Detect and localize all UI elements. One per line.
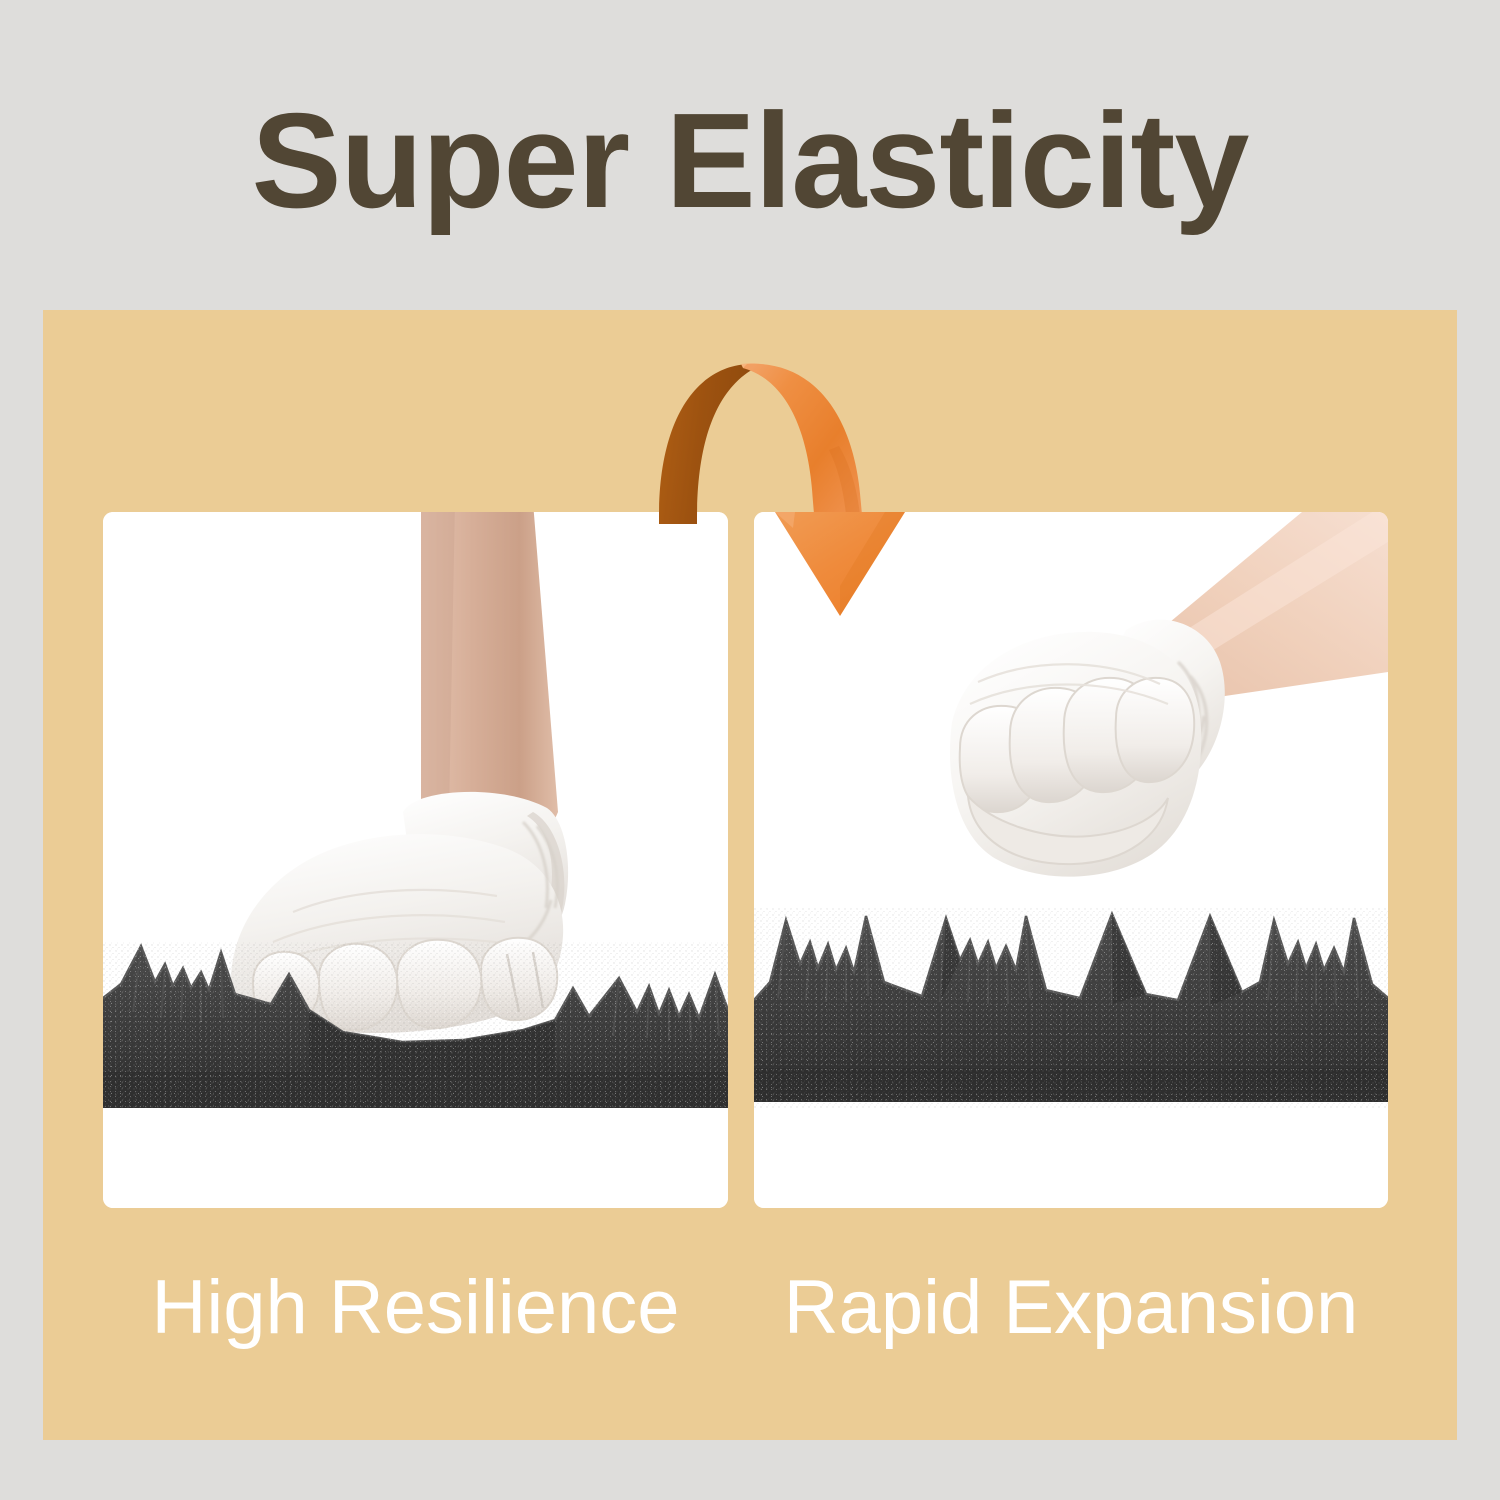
page-title: Super Elasticity (0, 86, 1500, 236)
feature-card: High Resilience Rapid Expansion (43, 310, 1457, 1440)
infographic-canvas: Super Elasticity (0, 0, 1500, 1500)
illustration-expanded-foam (754, 512, 1388, 1208)
photo-high-resilience (103, 512, 728, 1208)
photo-rapid-expansion (754, 512, 1388, 1208)
illustration-compressed-foam (103, 512, 728, 1208)
caption-rapid-expansion: Rapid Expansion (754, 1260, 1388, 1356)
caption-high-resilience: High Resilience (103, 1260, 728, 1356)
